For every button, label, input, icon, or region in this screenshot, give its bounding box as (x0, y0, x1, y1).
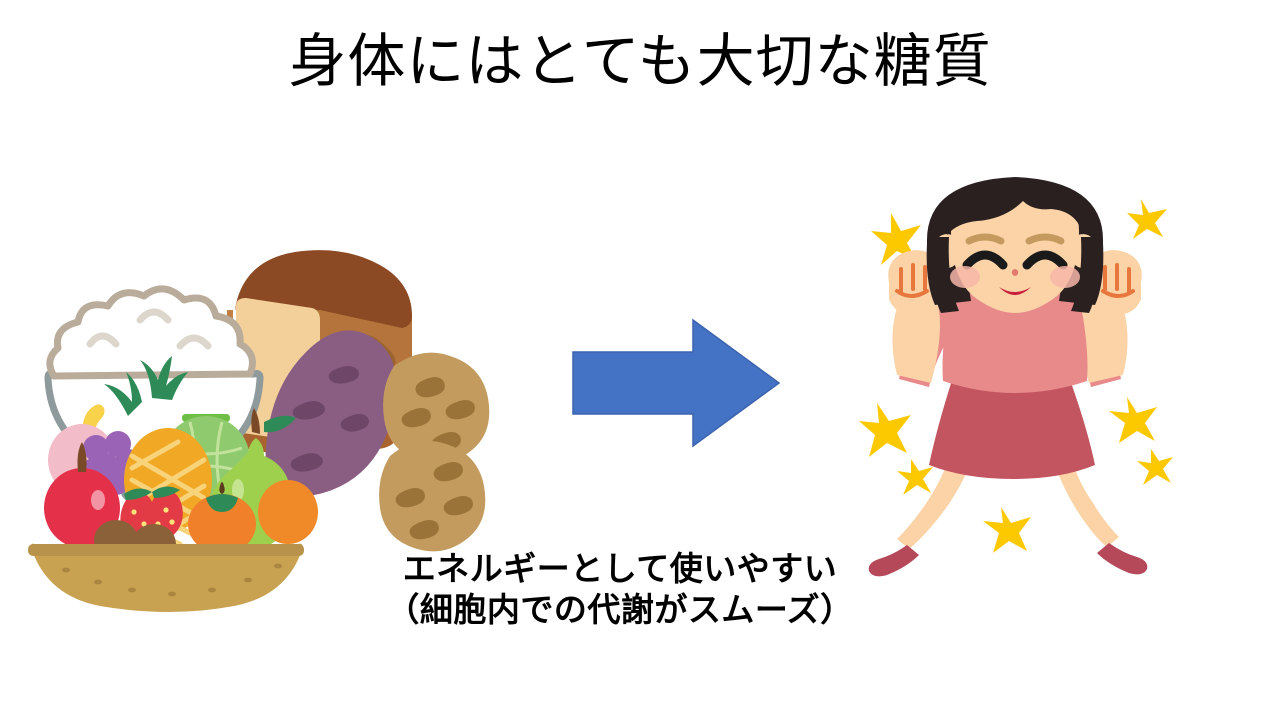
caption-text: エネルギーとして使いやすい （細胞内での代謝がスムーズ） (330, 548, 910, 631)
potato-icon-2 (379, 441, 485, 551)
caption-line-2: （細胞内での代謝がスムーズ） (330, 589, 910, 630)
head (927, 177, 1104, 313)
energetic-girl-illustration (855, 165, 1175, 585)
right-arrow-shape (565, 318, 785, 448)
caption-line-1: エネルギーとして使いやすい (403, 550, 838, 587)
page-title: 身体にはとても大切な糖質 (0, 30, 1280, 95)
shoes (869, 543, 1148, 576)
carbohydrate-foods-illustration (20, 160, 500, 580)
slide-canvas: 身体にはとても大切な糖質 (0, 0, 1280, 720)
